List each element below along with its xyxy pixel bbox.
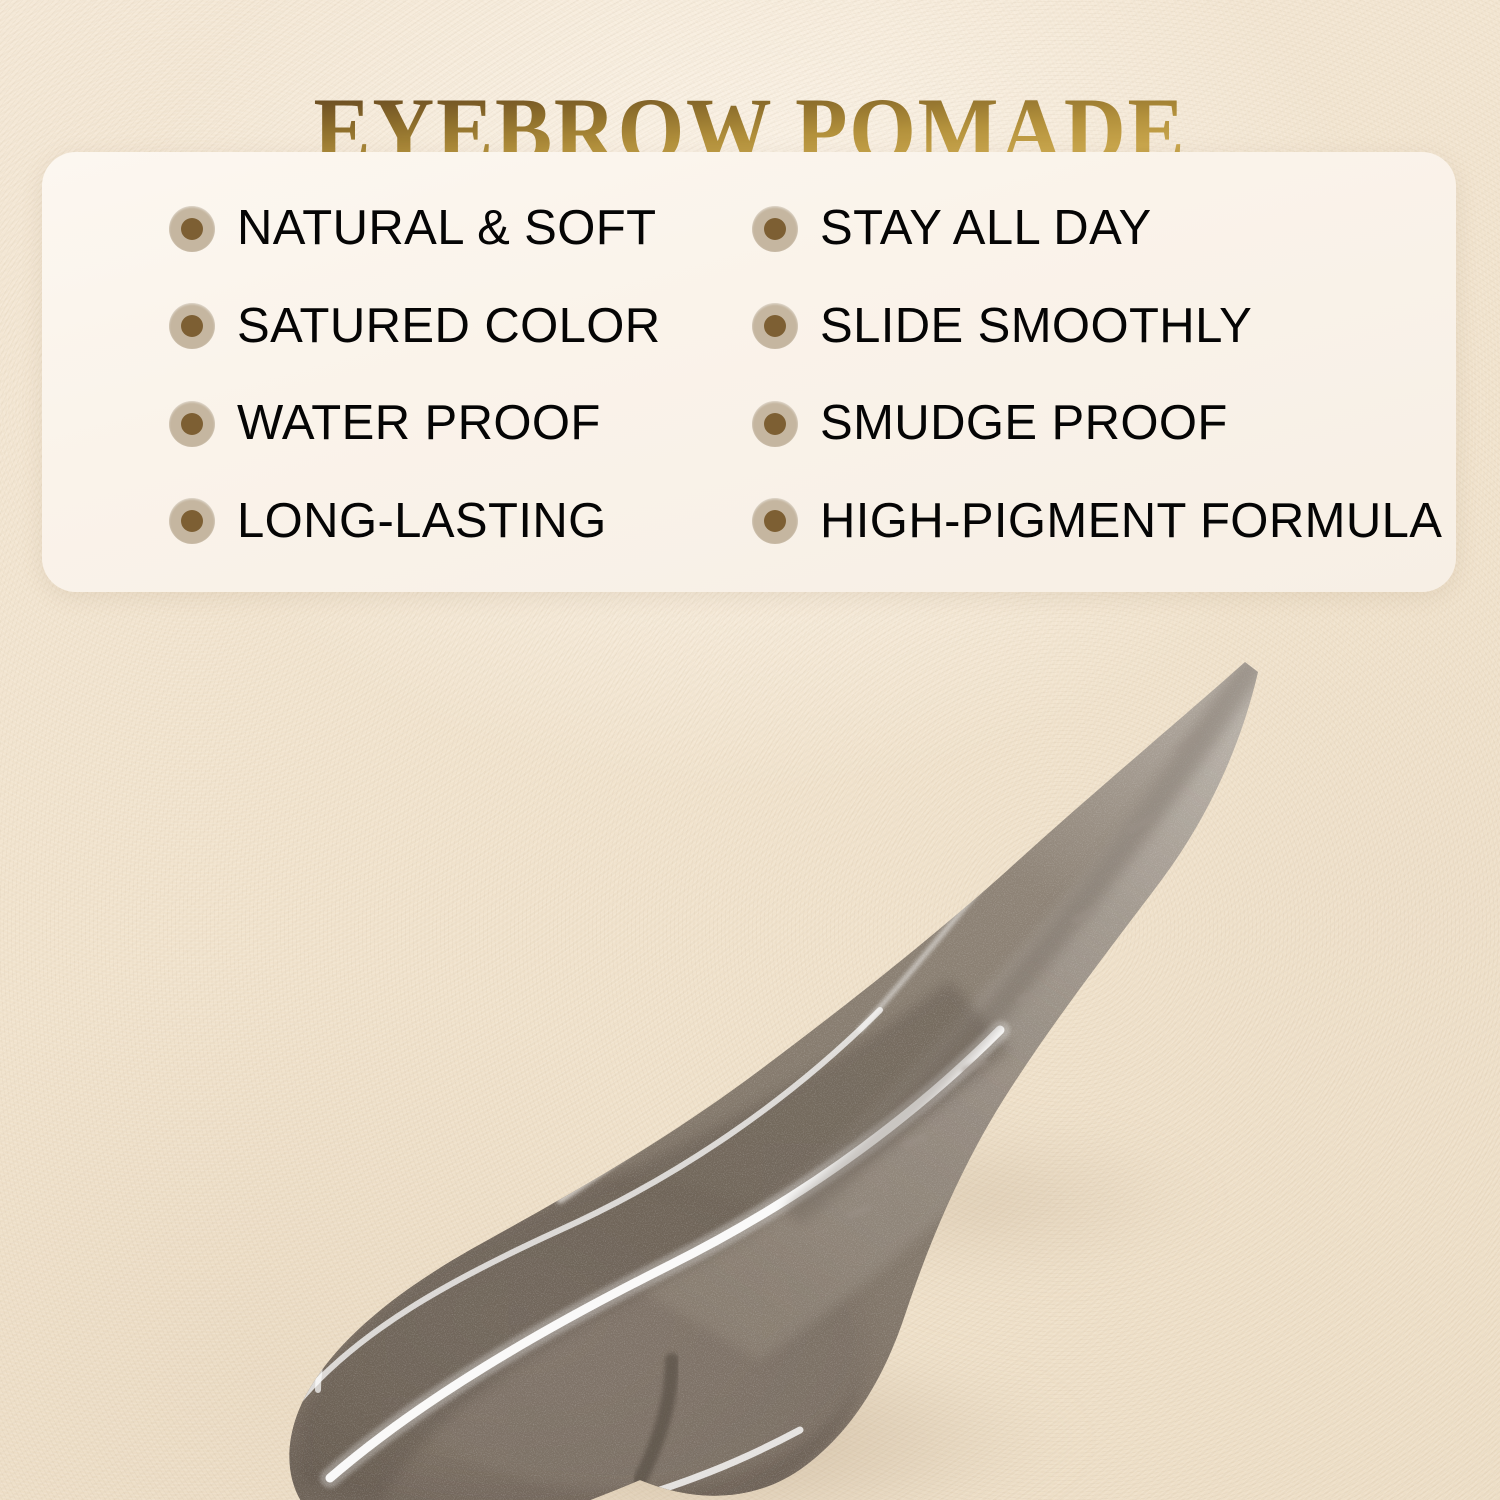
feature-list-card: NATURAL & SOFT STAY ALL DAY SATURED COLO… [42, 152, 1456, 592]
feature-item-long-lasting: LONG-LASTING [42, 497, 737, 546]
bullet-dot-icon [169, 401, 215, 447]
bullet-dot-icon [752, 303, 798, 349]
feature-item-water-proof: WATER PROOF [42, 399, 737, 448]
feature-label: SLIDE SMOOTHLY [820, 302, 1252, 351]
swatch-illustration [0, 600, 1500, 1500]
feature-label: STAY ALL DAY [820, 204, 1152, 253]
feature-item-natural-soft: NATURAL & SOFT [42, 204, 737, 253]
feature-label: NATURAL & SOFT [237, 204, 656, 253]
swatch-body-group [0, 600, 1500, 1500]
feature-item-stay-all-day: STAY ALL DAY [737, 204, 1456, 253]
feature-item-smudge-proof: SMUDGE PROOF [737, 399, 1456, 448]
feature-label: SMUDGE PROOF [820, 399, 1228, 448]
bullet-dot-icon [169, 498, 215, 544]
feature-item-high-pigment-formula: HIGH-PIGMENT FORMULA [737, 497, 1456, 546]
product-feature-image: EYEBROW POMADE NATURAL & SOFT STAY ALL D… [0, 0, 1500, 1500]
feature-label: SATURED COLOR [237, 302, 661, 351]
pomade-cream-swatch [0, 600, 1500, 1500]
feature-label: LONG-LASTING [237, 497, 607, 546]
bullet-dot-icon [752, 401, 798, 447]
bullet-dot-icon [752, 498, 798, 544]
bullet-dot-icon [752, 206, 798, 252]
feature-grid: NATURAL & SOFT STAY ALL DAY SATURED COLO… [42, 152, 1456, 592]
feature-label: WATER PROOF [237, 399, 601, 448]
feature-item-satured-color: SATURED COLOR [42, 302, 737, 351]
swatch-shimmer [0, 600, 1500, 1500]
bullet-dot-icon [169, 303, 215, 349]
feature-item-slide-smoothly: SLIDE SMOOTHLY [737, 302, 1456, 351]
bullet-dot-icon [169, 206, 215, 252]
feature-label: HIGH-PIGMENT FORMULA [820, 497, 1442, 546]
